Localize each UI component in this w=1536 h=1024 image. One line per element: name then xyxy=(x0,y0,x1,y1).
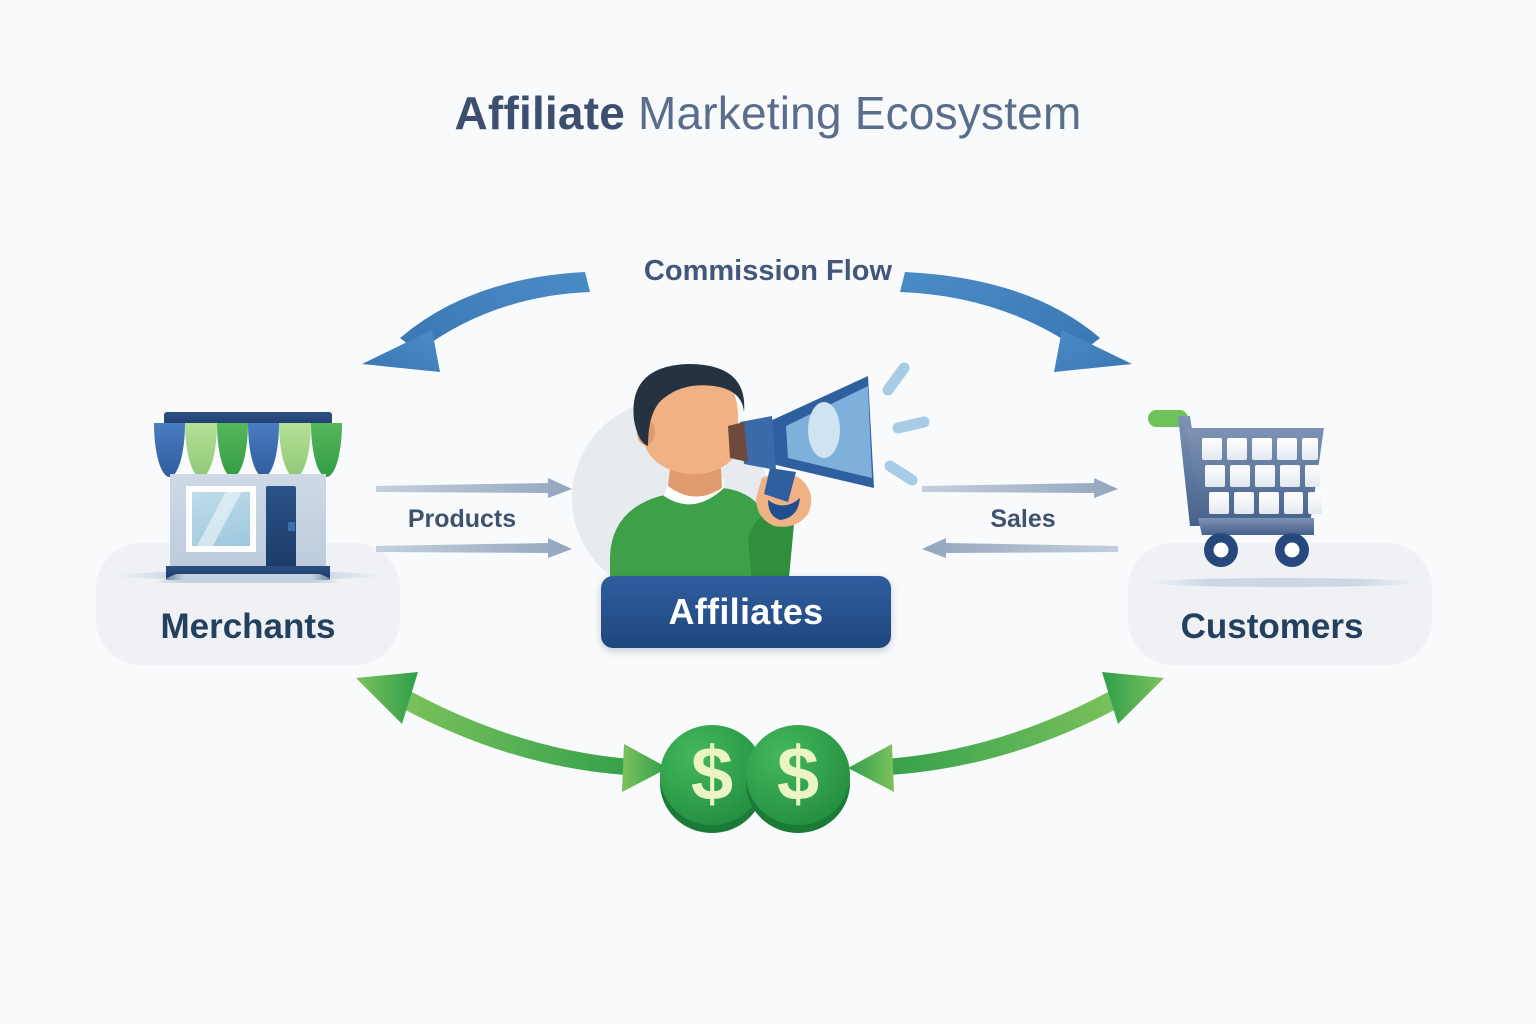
sales-arrow-bottom xyxy=(922,538,1118,558)
customers-label: Customers xyxy=(1112,607,1432,647)
storefront-step xyxy=(148,574,348,583)
coin-left-symbol: $ xyxy=(691,732,733,817)
sales-flow-label: Sales xyxy=(928,505,1118,534)
storefront-window-glass xyxy=(192,492,250,546)
title-light-part: Marketing Ecosystem xyxy=(638,87,1082,139)
products-arrow-bottom xyxy=(376,538,572,558)
awning-stripe-lightgreen-1 xyxy=(185,423,216,477)
diagram-canvas: Affiliate Marketing Ecosystem Merchants xyxy=(0,0,1536,1024)
storefront-awning xyxy=(154,423,342,477)
coin-right-symbol: $ xyxy=(777,732,819,817)
page-title: Affiliate Marketing Ecosystem xyxy=(0,86,1536,140)
storefront-glass-shine xyxy=(192,492,242,546)
affiliates-label: Affiliates xyxy=(668,591,823,633)
coin-right xyxy=(746,725,850,825)
awning-stripe-green-1 xyxy=(217,423,248,477)
storefront-icon xyxy=(146,412,350,582)
title-bold-part: Affiliate xyxy=(455,87,625,139)
affiliates-node-card[interactable]: Affiliates xyxy=(601,576,891,648)
merchants-label: Merchants xyxy=(88,607,408,647)
awning-stripe-lightgreen-2 xyxy=(279,423,310,477)
shopping-cart-icon xyxy=(1146,406,1376,584)
commission-flow-label: Commission Flow xyxy=(518,255,1018,288)
sales-arrow-top xyxy=(922,478,1118,498)
money-arrow-right xyxy=(848,672,1164,792)
dollar-coins-icon: $ $ xyxy=(660,725,850,833)
megaphone-mouth xyxy=(808,402,840,458)
awning-stripe-blue-2 xyxy=(248,423,279,477)
products-arrow-top xyxy=(376,478,572,498)
person-with-megaphone-icon xyxy=(572,360,932,610)
megaphone-sound-lines xyxy=(888,368,924,480)
awning-stripe-blue-1 xyxy=(154,423,185,477)
coin-left xyxy=(660,725,764,825)
storefront-door-knob xyxy=(288,522,295,531)
money-arrow-left xyxy=(356,672,668,792)
products-flow-label: Products xyxy=(352,505,572,534)
awning-stripe-green-2 xyxy=(311,423,342,477)
